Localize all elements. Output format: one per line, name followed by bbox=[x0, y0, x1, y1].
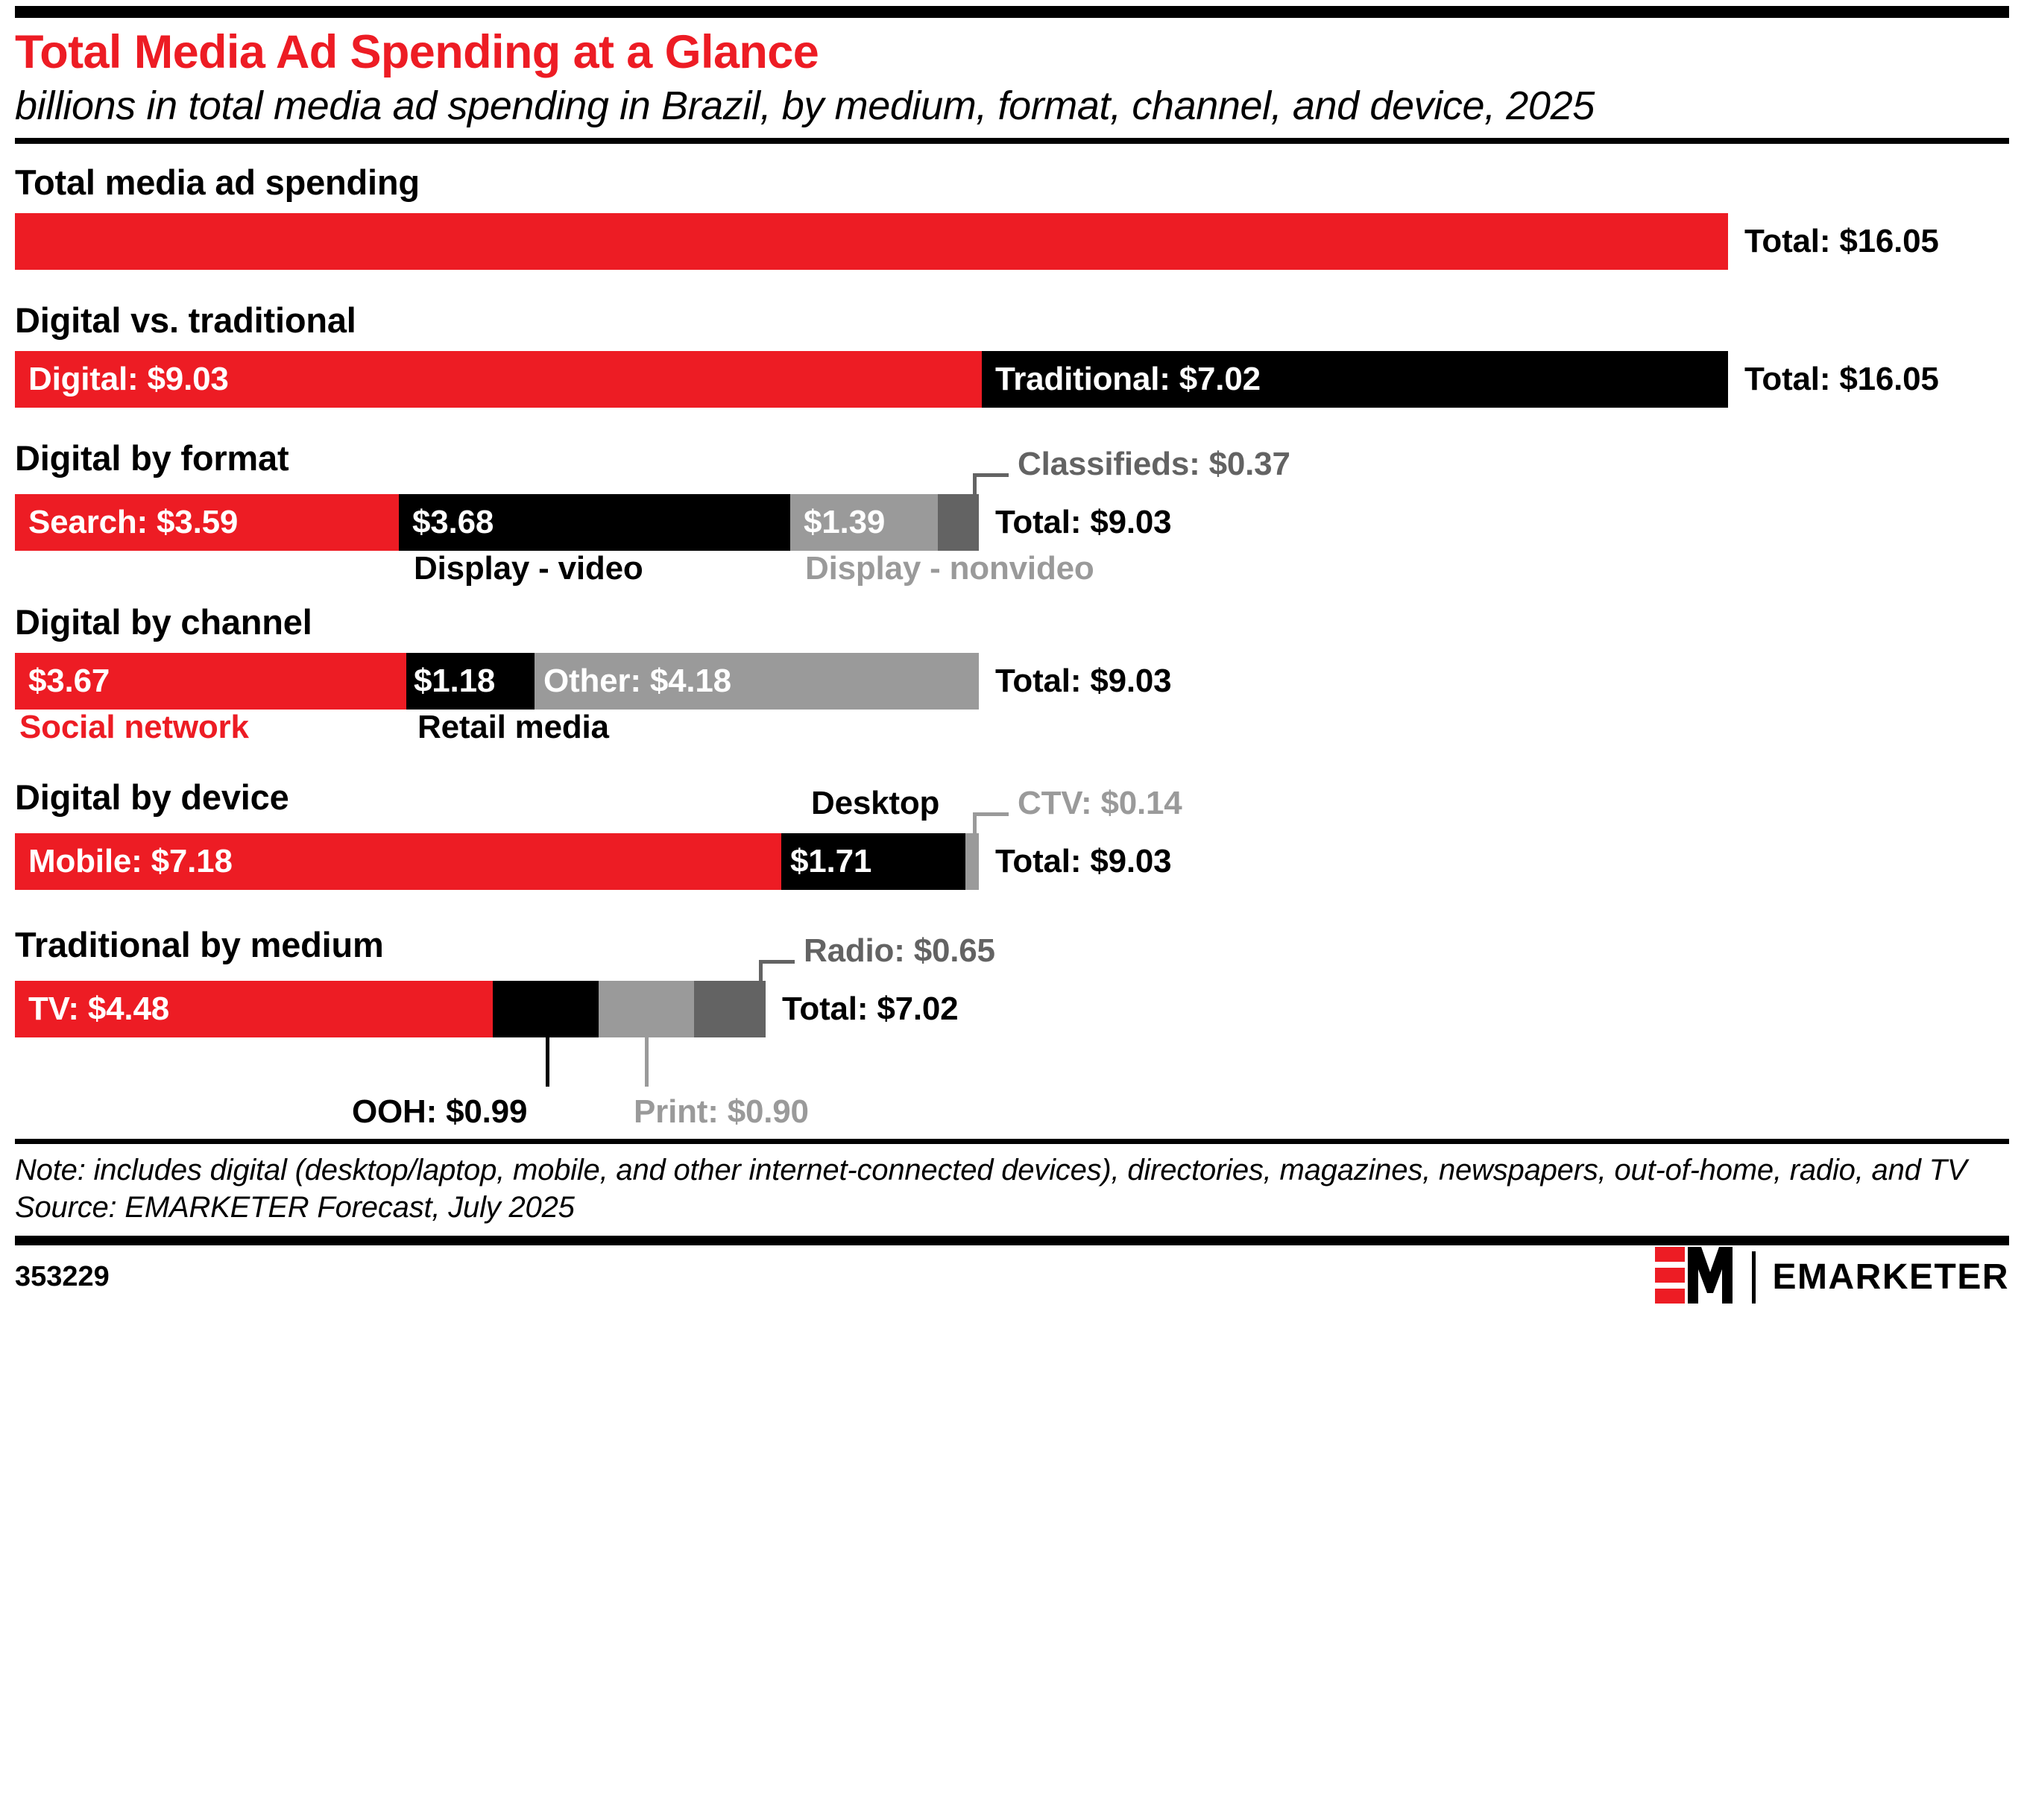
title-block: Total Media Ad Spending at a Glance bill… bbox=[15, 18, 2009, 138]
segment-total-media[interactable] bbox=[15, 213, 1728, 270]
section-total-media: Total media ad spending Total: $16.05 bbox=[15, 148, 2009, 270]
emarketer-logo[interactable]: EMARKETER bbox=[1655, 1247, 2009, 1307]
footer-bar: 353229 EMARKETER bbox=[15, 1245, 2009, 1309]
segment-print[interactable] bbox=[599, 981, 694, 1037]
traditional-heading-row: Traditional by medium Radio: $0.65 bbox=[15, 927, 2009, 970]
page-title: Total Media Ad Spending at a Glance bbox=[15, 28, 2009, 78]
section-digital-by-channel: Digital by channel $3.67 $1.18 Other: $4… bbox=[15, 594, 2009, 753]
chart-page: Total Media Ad Spending at a Glance bill… bbox=[0, 6, 2024, 1820]
bottom-rule bbox=[15, 1236, 2009, 1245]
total-label-digital-by-channel: Total: $9.03 bbox=[979, 653, 1171, 710]
leader-line-ooh bbox=[546, 1037, 549, 1087]
section-traditional-by-medium: Traditional by medium Radio: $0.65 TV: $… bbox=[15, 890, 2009, 1134]
section-digital-vs-traditional: Digital vs. traditional Digital: $9.03 T… bbox=[15, 270, 2009, 408]
segment-label-tv: TV: $4.48 bbox=[15, 993, 169, 1026]
notes-divider-rule bbox=[15, 1139, 2009, 1144]
callout-label-ctv: CTV: $0.14 bbox=[1018, 787, 1182, 820]
segment-classifieds[interactable] bbox=[938, 494, 979, 551]
segment-value-desktop: $1.71 bbox=[781, 845, 871, 878]
total-label-digital-by-format: Total: $9.03 bbox=[979, 494, 1171, 551]
segment-value-social-network: $3.67 bbox=[15, 665, 110, 698]
top-rule bbox=[15, 6, 2009, 18]
section-digital-by-device: Digital by device Desktop CTV: $0.14 Mob… bbox=[15, 753, 2009, 890]
caption-retail-media: Retail media bbox=[417, 711, 609, 744]
bar-digital-vs-traditional: Digital: $9.03 Traditional: $7.02 Total:… bbox=[15, 351, 2009, 408]
section-heading-traditional-by-medium: Traditional by medium bbox=[15, 927, 384, 962]
format-heading-row: Digital by format Classifieds: $0.37 bbox=[15, 440, 2009, 484]
bar-digital-by-format: Search: $3.59 $3.68 $1.39 Total: $9.03 bbox=[15, 494, 2009, 551]
leader-line-print bbox=[645, 1037, 649, 1087]
segment-display-nonvideo[interactable]: $1.39 bbox=[790, 494, 938, 551]
source-text: Source: EMARKETER Forecast, July 2025 bbox=[15, 1189, 1998, 1226]
section-heading-total-media: Total media ad spending bbox=[15, 165, 2009, 200]
total-label-digital-by-device: Total: $9.03 bbox=[979, 833, 1171, 890]
segment-tv[interactable]: TV: $4.48 bbox=[15, 981, 493, 1037]
segment-radio[interactable] bbox=[694, 981, 766, 1037]
channel-caption-row: Social network Retail media bbox=[15, 710, 2009, 753]
chart-sections: Total media ad spending Total: $16.05 Di… bbox=[15, 144, 2009, 1134]
section-heading-digital-by-device: Digital by device bbox=[15, 780, 289, 815]
format-caption-row: Display - video Display - nonvideo bbox=[15, 551, 2009, 594]
segment-label-digital: Digital: $9.03 bbox=[15, 363, 229, 396]
callout-label-radio: Radio: $0.65 bbox=[804, 935, 995, 967]
segment-social-network[interactable]: $3.67 bbox=[15, 653, 406, 710]
callout-label-print: Print: $0.90 bbox=[634, 1096, 809, 1128]
footnotes: Note: includes digital (desktop/laptop, … bbox=[15, 1144, 1998, 1236]
segment-digital[interactable]: Digital: $9.03 bbox=[15, 351, 982, 408]
traditional-caption-row: OOH: $0.99 Print: $0.90 bbox=[15, 1037, 2009, 1134]
bar-digital-by-device: Mobile: $7.18 $1.71 Total: $9.03 bbox=[15, 833, 2009, 890]
bar-traditional-by-medium: TV: $4.48 Total: $7.02 bbox=[15, 981, 2009, 1037]
callout-label-classifieds: Classifieds: $0.37 bbox=[1018, 448, 1290, 481]
segment-other-channel[interactable]: Other: $4.18 bbox=[535, 653, 979, 710]
segment-mobile[interactable]: Mobile: $7.18 bbox=[15, 833, 781, 890]
segment-label-traditional: Traditional: $7.02 bbox=[982, 363, 1261, 396]
segment-label-search: Search: $3.59 bbox=[15, 506, 238, 539]
bar-digital-by-channel: $3.67 $1.18 Other: $4.18 Total: $9.03 bbox=[15, 653, 2009, 710]
note-text: Note: includes digital (desktop/laptop, … bbox=[15, 1151, 1998, 1189]
section-digital-by-format: Digital by format Classifieds: $0.37 Sea… bbox=[15, 408, 2009, 594]
segment-value-retail-media: $1.18 bbox=[406, 665, 495, 698]
segment-label-other-channel: Other: $4.18 bbox=[535, 665, 731, 698]
caption-social-network: Social network bbox=[19, 711, 249, 744]
bar-total-media: Total: $16.05 bbox=[15, 213, 2009, 270]
total-label-total-media: Total: $16.05 bbox=[1728, 213, 1939, 270]
page-subtitle: billions in total media ad spending in B… bbox=[15, 83, 1908, 130]
caption-display-video: Display - video bbox=[414, 552, 643, 585]
total-label-traditional-by-medium: Total: $7.02 bbox=[766, 981, 958, 1037]
segment-traditional[interactable]: Traditional: $7.02 bbox=[982, 351, 1728, 408]
section-heading-digital-by-channel: Digital by channel bbox=[15, 604, 2009, 639]
brand-name: EMARKETER bbox=[1756, 1260, 2009, 1295]
caption-display-nonvideo: Display - nonvideo bbox=[805, 552, 1094, 585]
section-heading-digital-vs-traditional: Digital vs. traditional bbox=[15, 303, 2009, 338]
segment-retail-media[interactable]: $1.18 bbox=[406, 653, 535, 710]
total-label-digital-vs-traditional: Total: $16.05 bbox=[1728, 351, 1939, 408]
title-divider-rule bbox=[15, 138, 2009, 144]
segment-value-display-video: $3.68 bbox=[399, 506, 494, 539]
segment-label-mobile: Mobile: $7.18 bbox=[15, 845, 233, 878]
segment-ctv[interactable] bbox=[965, 833, 979, 890]
em-monogram-icon bbox=[1655, 1247, 1738, 1307]
segment-ooh[interactable] bbox=[493, 981, 599, 1037]
callout-label-ooh: OOH: $0.99 bbox=[352, 1096, 527, 1128]
caption-desktop: Desktop bbox=[811, 787, 939, 820]
device-heading-row: Digital by device Desktop CTV: $0.14 bbox=[15, 780, 2009, 823]
segment-value-display-nonvideo: $1.39 bbox=[790, 506, 885, 539]
segment-desktop[interactable]: $1.71 bbox=[781, 833, 965, 890]
section-heading-digital-by-format: Digital by format bbox=[15, 440, 289, 475]
segment-search[interactable]: Search: $3.59 bbox=[15, 494, 399, 551]
segment-display-video[interactable]: $3.68 bbox=[399, 494, 790, 551]
chart-id: 353229 bbox=[15, 1261, 110, 1293]
